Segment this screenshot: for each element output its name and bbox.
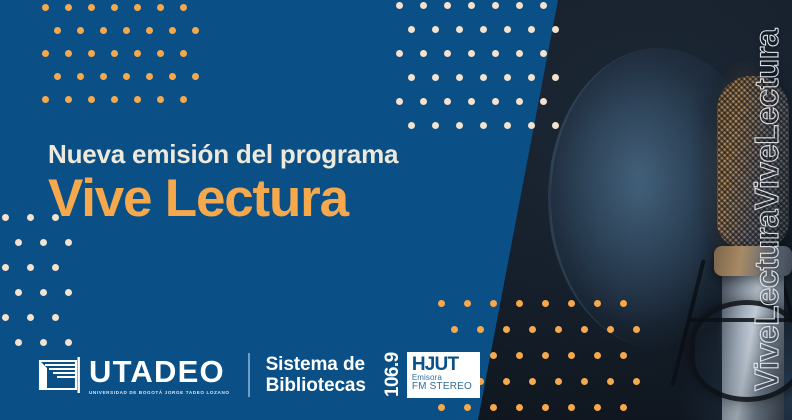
decor-dot — [40, 239, 47, 246]
decor-dot — [420, 50, 427, 57]
decor-dot — [134, 50, 141, 57]
logo-divider — [248, 353, 250, 397]
decor-dot — [594, 404, 601, 411]
decor-dot — [88, 4, 95, 11]
decor-dot — [594, 300, 601, 307]
decor-dot — [542, 300, 549, 307]
decor-dot — [180, 4, 187, 11]
radio-frequency: 106.9 — [382, 352, 404, 398]
decor-dot — [444, 98, 451, 105]
decor-dot — [516, 300, 523, 307]
decor-dot — [396, 98, 403, 105]
decor-dot — [2, 214, 9, 221]
decor-dot — [594, 352, 601, 359]
decor-dot — [192, 27, 199, 34]
banner-canvas: Nueva emisión del programa Vive Lectura … — [0, 0, 792, 420]
decor-dot — [65, 50, 72, 57]
decor-dot — [464, 404, 471, 411]
decor-dot — [540, 98, 547, 105]
decor-dot — [65, 339, 72, 346]
decor-dot — [456, 26, 463, 33]
decor-dot — [516, 404, 523, 411]
decor-dot — [552, 122, 559, 129]
decor-dot — [468, 98, 475, 105]
radio-callsign: HJUT — [412, 356, 474, 374]
decor-dot — [516, 2, 523, 9]
decor-dot — [134, 4, 141, 11]
decor-dot — [408, 122, 415, 129]
decor-dot — [408, 26, 415, 33]
decor-dot — [15, 339, 22, 346]
decor-dot — [396, 50, 403, 57]
decor-dot — [146, 27, 153, 34]
decor-dot — [468, 2, 475, 9]
decor-dot — [157, 4, 164, 11]
decor-dot — [27, 314, 34, 321]
decor-dot — [490, 352, 497, 359]
decor-dot — [480, 26, 487, 33]
radio-band: FM STEREO — [412, 382, 474, 393]
library-line-2: Bibliotecas — [266, 375, 366, 396]
headline-title: Vive Lectura — [48, 171, 398, 227]
decor-dot — [528, 74, 535, 81]
decor-dot — [432, 26, 439, 33]
decor-dot — [111, 96, 118, 103]
decor-dot — [100, 27, 107, 34]
decor-dot — [480, 122, 487, 129]
decor-dot — [568, 300, 575, 307]
headline-kicker: Nueva emisión del programa — [48, 140, 398, 169]
decor-dot — [529, 378, 536, 385]
decor-dot — [555, 326, 562, 333]
decor-dot — [15, 289, 22, 296]
decor-dot — [65, 4, 72, 11]
decor-dot — [157, 50, 164, 57]
decor-dot — [42, 4, 49, 11]
footer-logo-bar: UTADEO UNIVERSIDAD DE BOGOTÁ JORGE TADEO… — [36, 352, 480, 398]
decor-dot — [432, 74, 439, 81]
decor-dot — [516, 98, 523, 105]
decor-dot — [504, 74, 511, 81]
decor-dot — [503, 326, 510, 333]
decor-dot — [552, 26, 559, 33]
decor-dot — [54, 27, 61, 34]
decor-dot — [451, 326, 458, 333]
decor-dot — [540, 50, 547, 57]
decor-dot — [146, 73, 153, 80]
decor-dot — [65, 239, 72, 246]
decor-dot — [552, 74, 559, 81]
decor-dot — [581, 326, 588, 333]
decor-dot — [111, 50, 118, 57]
decor-dot — [607, 326, 614, 333]
decor-dot — [40, 289, 47, 296]
library-line-1: Sistema de — [266, 354, 366, 375]
utadeo-wordmark: UTADEO — [89, 356, 230, 387]
hjut-radio-logo: 106.9 HJUT Emisora FM STEREO — [382, 352, 480, 398]
decor-dot — [492, 50, 499, 57]
decor-dot — [15, 239, 22, 246]
decor-dot — [568, 352, 575, 359]
decor-dot — [492, 2, 499, 9]
decor-dot — [180, 96, 187, 103]
decor-dot — [620, 300, 627, 307]
decor-dot — [438, 404, 445, 411]
decor-dot — [516, 352, 523, 359]
decor-dot — [52, 314, 59, 321]
decor-dot — [444, 2, 451, 9]
decor-dot — [111, 4, 118, 11]
open-book-icon — [36, 355, 82, 395]
decor-dot — [504, 122, 511, 129]
decor-dot — [456, 122, 463, 129]
decor-dot — [456, 74, 463, 81]
utadeo-logo: UTADEO UNIVERSIDAD DE BOGOTÁ JORGE TADEO… — [36, 355, 230, 395]
decor-dot — [134, 96, 141, 103]
decor-dot — [420, 98, 427, 105]
decor-dot — [633, 326, 640, 333]
decor-dot — [516, 50, 523, 57]
decor-dot — [504, 26, 511, 33]
decor-dot — [100, 73, 107, 80]
decor-dot — [444, 50, 451, 57]
decor-dot — [65, 289, 72, 296]
decor-dot — [620, 352, 627, 359]
decor-dot — [88, 50, 95, 57]
decor-dot — [180, 50, 187, 57]
decor-dot — [42, 50, 49, 57]
decor-dot — [490, 404, 497, 411]
decor-dot — [464, 300, 471, 307]
decor-dot — [620, 404, 627, 411]
decor-dot — [528, 122, 535, 129]
decor-dot — [468, 50, 475, 57]
decor-dot — [528, 26, 535, 33]
decor-dot — [77, 27, 84, 34]
decor-dot — [88, 96, 95, 103]
decor-dot — [169, 27, 176, 34]
utadeo-subtitle: UNIVERSIDAD DE BOGOTÁ JORGE TADEO LOZANO — [89, 390, 230, 395]
decor-dot — [42, 96, 49, 103]
decor-dot — [65, 96, 72, 103]
decor-dot — [123, 27, 130, 34]
decor-dot — [492, 98, 499, 105]
headline-block: Nueva emisión del programa Vive Lectura — [48, 140, 398, 226]
sistema-bibliotecas-logo: Sistema de Bibliotecas — [266, 354, 366, 397]
decor-dot — [503, 378, 510, 385]
decor-dot — [607, 378, 614, 385]
decor-dot — [420, 2, 427, 9]
decor-dot — [581, 378, 588, 385]
decor-dot — [157, 96, 164, 103]
decor-dot — [27, 264, 34, 271]
decor-dot — [540, 2, 547, 9]
decor-dot — [529, 326, 536, 333]
decor-dot — [568, 404, 575, 411]
decor-dot — [40, 339, 47, 346]
decor-dot — [52, 264, 59, 271]
decor-dot — [432, 122, 439, 129]
decor-dot — [633, 378, 640, 385]
decor-dot — [123, 73, 130, 80]
decor-dot — [555, 378, 562, 385]
decor-dot — [27, 214, 34, 221]
decor-dot — [169, 73, 176, 80]
radio-callsign-box: HJUT Emisora FM STEREO — [407, 352, 480, 398]
decor-dot — [477, 326, 484, 333]
decor-dot — [2, 264, 9, 271]
decor-dot — [542, 352, 549, 359]
decor-dot — [77, 73, 84, 80]
decor-dot — [490, 300, 497, 307]
decor-dot — [192, 73, 199, 80]
decor-dot — [396, 2, 403, 9]
decor-dot — [438, 300, 445, 307]
decor-dot — [408, 74, 415, 81]
decor-dot — [542, 404, 549, 411]
decor-dot — [480, 74, 487, 81]
decor-dot — [54, 73, 61, 80]
decor-dot — [2, 314, 9, 321]
